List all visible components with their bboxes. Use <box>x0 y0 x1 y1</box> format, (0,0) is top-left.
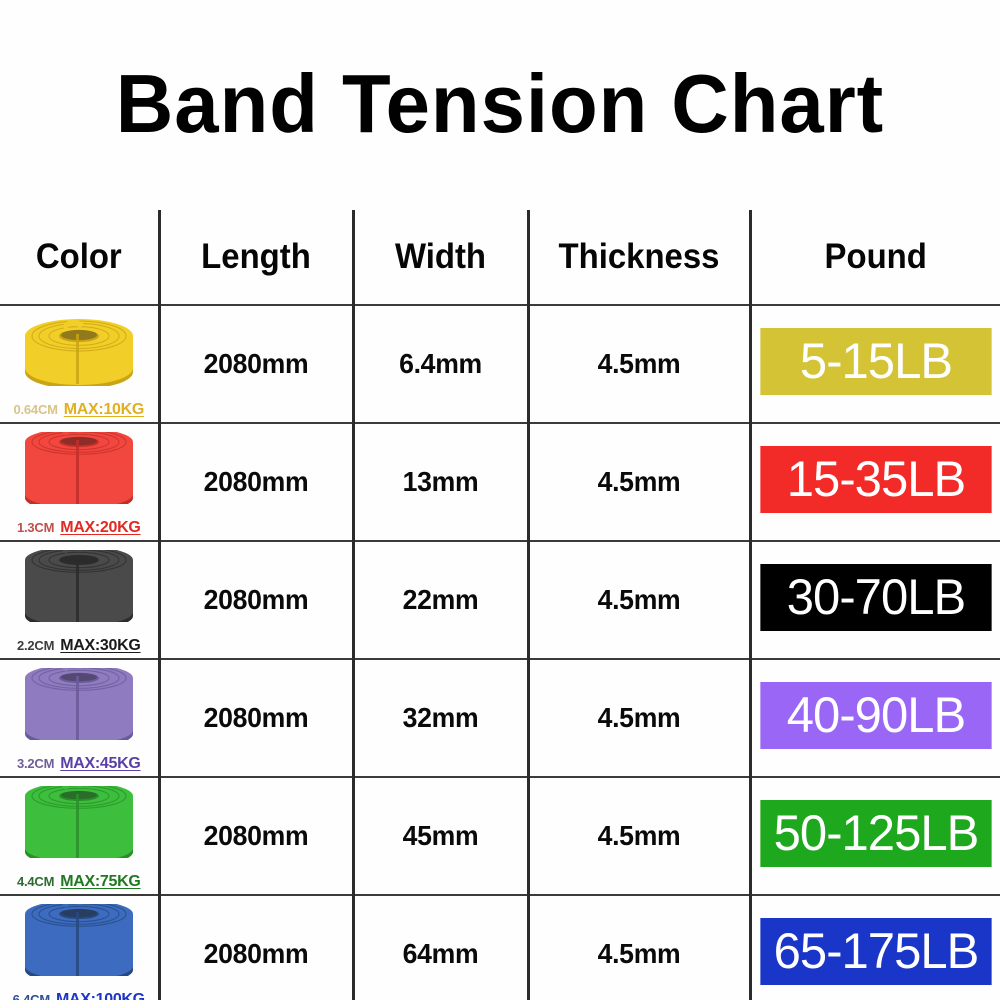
table-row: 4.4CMMAX:75KG 2080mm 45mm 4.5mm 50-125LB <box>0 777 1000 895</box>
column-header-length: Length <box>165 210 347 305</box>
band-max-kg-label: MAX:75KG <box>60 873 140 890</box>
table-row: 3.2CMMAX:45KG 2080mm 32mm 4.5mm 40-90LB <box>0 659 1000 777</box>
color-cell-black: 2.2CMMAX:30KG <box>0 541 159 659</box>
table-header-row: Color Length Width Thickness Pound <box>0 210 1000 305</box>
band-tension-table: Color Length Width Thickness Pound <box>0 210 1000 1000</box>
table-row: 1.3CMMAX:20KG 2080mm 13mm 4.5mm 15-35LB <box>0 423 1000 541</box>
band-caption: 2.2CMMAX:30KG <box>0 638 158 654</box>
resistance-band-coil-icon <box>16 668 142 740</box>
table-row: 0.64CMMAX:10KG 2080mm 6.4mm 4.5mm 5-15LB <box>0 305 1000 423</box>
color-cell-yellow: 0.64CMMAX:10KG <box>0 305 159 423</box>
pound-badge-purple: 40-90LB <box>760 682 991 749</box>
length-cell: 2080mm <box>164 659 348 777</box>
color-cell-green: 4.4CMMAX:75KG <box>0 777 159 895</box>
band-max-kg-label: MAX:45KG <box>60 755 140 772</box>
page-title: Band Tension Chart <box>20 62 980 145</box>
band-max-kg-label: MAX:30KG <box>60 637 140 654</box>
band-image-purple: 3.2CMMAX:45KG <box>0 660 158 776</box>
pound-cell: 5-15LB <box>750 305 1000 423</box>
pound-cell: 15-35LB <box>750 423 1000 541</box>
thickness-cell: 4.5mm <box>534 305 745 423</box>
resistance-band-coil-icon <box>16 314 142 386</box>
band-cm-label: 0.64CM <box>13 402 57 417</box>
length-cell: 2080mm <box>164 423 348 541</box>
thickness-cell: 4.5mm <box>534 423 745 541</box>
width-cell: 13mm <box>357 423 523 541</box>
column-header-width: Width <box>358 210 523 305</box>
resistance-band-coil-icon <box>16 904 142 976</box>
thickness-cell: 4.5mm <box>534 895 745 1000</box>
width-cell: 45mm <box>357 777 523 895</box>
thickness-cell: 4.5mm <box>534 541 745 659</box>
color-cell-red: 1.3CMMAX:20KG <box>0 423 159 541</box>
table-row: 2.2CMMAX:30KG 2080mm 22mm 4.5mm 30-70LB <box>0 541 1000 659</box>
pound-cell: 50-125LB <box>750 777 1000 895</box>
pound-badge-blue: 65-175LB <box>760 918 991 985</box>
resistance-band-coil-icon <box>16 786 142 858</box>
resistance-band-coil-icon <box>16 550 142 622</box>
length-cell: 2080mm <box>164 305 348 423</box>
thickness-cell: 4.5mm <box>534 659 745 777</box>
pound-badge-green: 50-125LB <box>760 800 991 867</box>
resistance-band-coil-icon <box>16 432 142 504</box>
width-cell: 64mm <box>357 895 523 1000</box>
pound-cell: 65-175LB <box>750 895 1000 1000</box>
band-caption: 0.64CMMAX:10KG <box>0 402 158 418</box>
pound-badge-yellow: 5-15LB <box>760 328 991 395</box>
column-header-pound: Pound <box>758 210 993 305</box>
band-max-kg-label: MAX:100KG <box>56 991 145 1000</box>
band-caption: 6.4CMMAX:100KG <box>0 992 158 1000</box>
pound-badge-red: 15-35LB <box>760 446 991 513</box>
color-cell-purple: 3.2CMMAX:45KG <box>0 659 159 777</box>
band-max-kg-label: MAX:20KG <box>60 519 140 536</box>
length-cell: 2080mm <box>164 895 348 1000</box>
band-cm-label: 1.3CM <box>17 520 54 535</box>
band-tension-chart-page: Band Tension Chart Color Length Width Th… <box>0 0 1000 1000</box>
band-image-yellow: 0.64CMMAX:10KG <box>0 306 158 422</box>
band-max-kg-label: MAX:10KG <box>64 401 144 418</box>
length-cell: 2080mm <box>164 541 348 659</box>
thickness-cell: 4.5mm <box>534 777 745 895</box>
band-cm-label: 4.4CM <box>17 874 54 889</box>
band-caption: 4.4CMMAX:75KG <box>0 874 158 890</box>
pound-cell: 30-70LB <box>750 541 1000 659</box>
width-cell: 32mm <box>357 659 523 777</box>
band-cm-label: 3.2CM <box>17 756 54 771</box>
width-cell: 22mm <box>357 541 523 659</box>
band-caption: 1.3CMMAX:20KG <box>0 520 158 536</box>
column-header-thickness: Thickness <box>535 210 744 305</box>
band-image-red: 1.3CMMAX:20KG <box>0 424 158 540</box>
length-cell: 2080mm <box>164 777 348 895</box>
band-image-black: 2.2CMMAX:30KG <box>0 542 158 658</box>
band-image-blue: 6.4CMMAX:100KG <box>0 896 158 1000</box>
width-cell: 6.4mm <box>357 305 523 423</box>
band-cm-label: 6.4CM <box>13 992 50 1000</box>
color-cell-blue: 6.4CMMAX:100KG <box>0 895 159 1000</box>
table-row: 6.4CMMAX:100KG 2080mm 64mm 4.5mm 65-175L… <box>0 895 1000 1000</box>
band-cm-label: 2.2CM <box>17 638 54 653</box>
column-header-color: Color <box>5 210 154 305</box>
table-body: 0.64CMMAX:10KG 2080mm 6.4mm 4.5mm 5-15LB <box>0 305 1000 1000</box>
pound-cell: 40-90LB <box>750 659 1000 777</box>
pound-badge-black: 30-70LB <box>760 564 991 631</box>
band-caption: 3.2CMMAX:45KG <box>0 756 158 772</box>
band-image-green: 4.4CMMAX:75KG <box>0 778 158 894</box>
